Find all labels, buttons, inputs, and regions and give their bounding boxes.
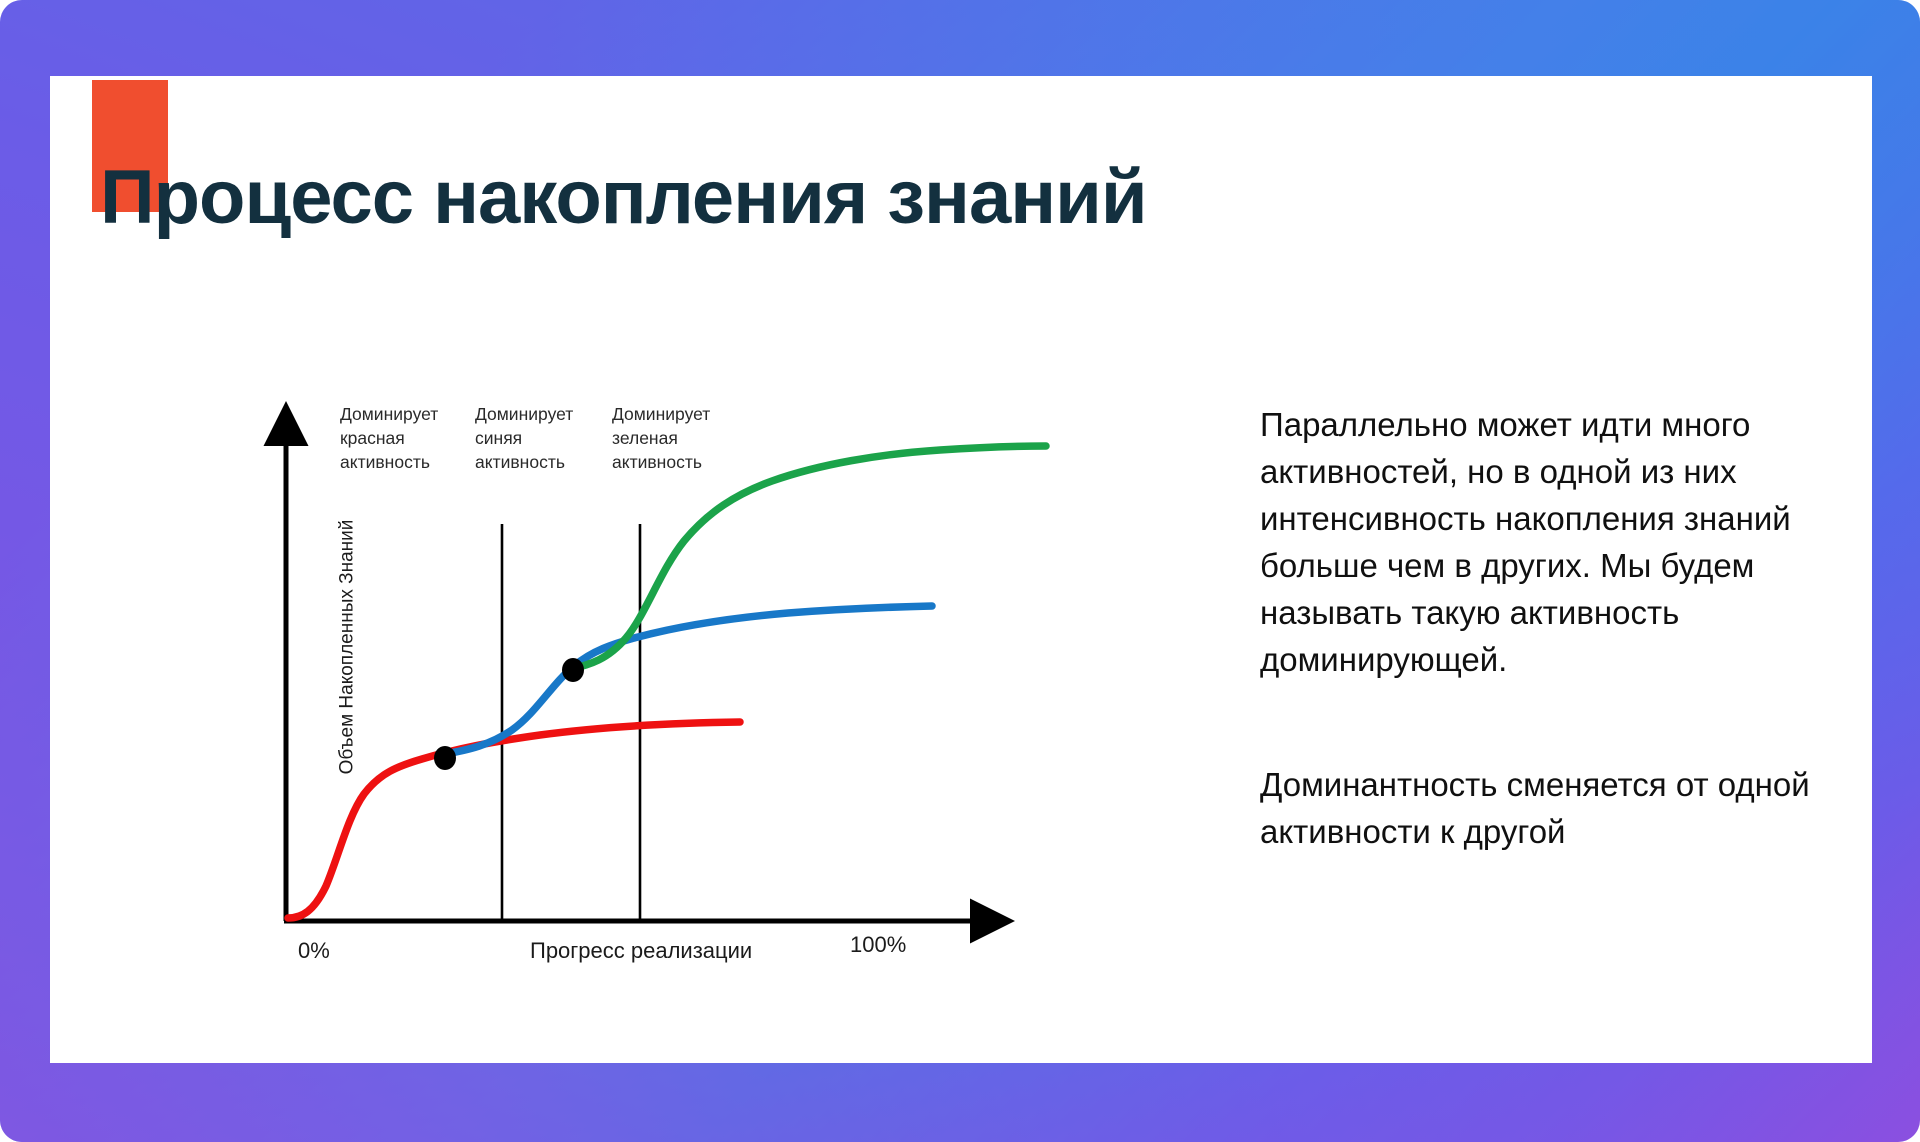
series-line-blue — [445, 606, 932, 754]
transition-point-blue-to-green — [562, 658, 584, 682]
body-text-column: Параллельно может идти много активностей… — [1260, 401, 1860, 855]
series-line-red — [288, 722, 740, 918]
body-paragraph-1: Параллельно может идти много активностей… — [1260, 401, 1860, 683]
body-paragraph-2: Доминантность сменяется от одной активно… — [1260, 761, 1860, 855]
slide-root: Процесс накопления знаний Доминирует кра… — [0, 0, 1920, 1142]
slide-content-card: Процесс накопления знаний Доминирует кра… — [50, 76, 1872, 1063]
transition-point-red-to-blue — [434, 746, 456, 770]
plot-svg — [240, 326, 1140, 1026]
knowledge-accumulation-chart: Доминирует красная активность Доминирует… — [240, 326, 1140, 1026]
page-title: Процесс накопления знаний — [100, 160, 1147, 236]
